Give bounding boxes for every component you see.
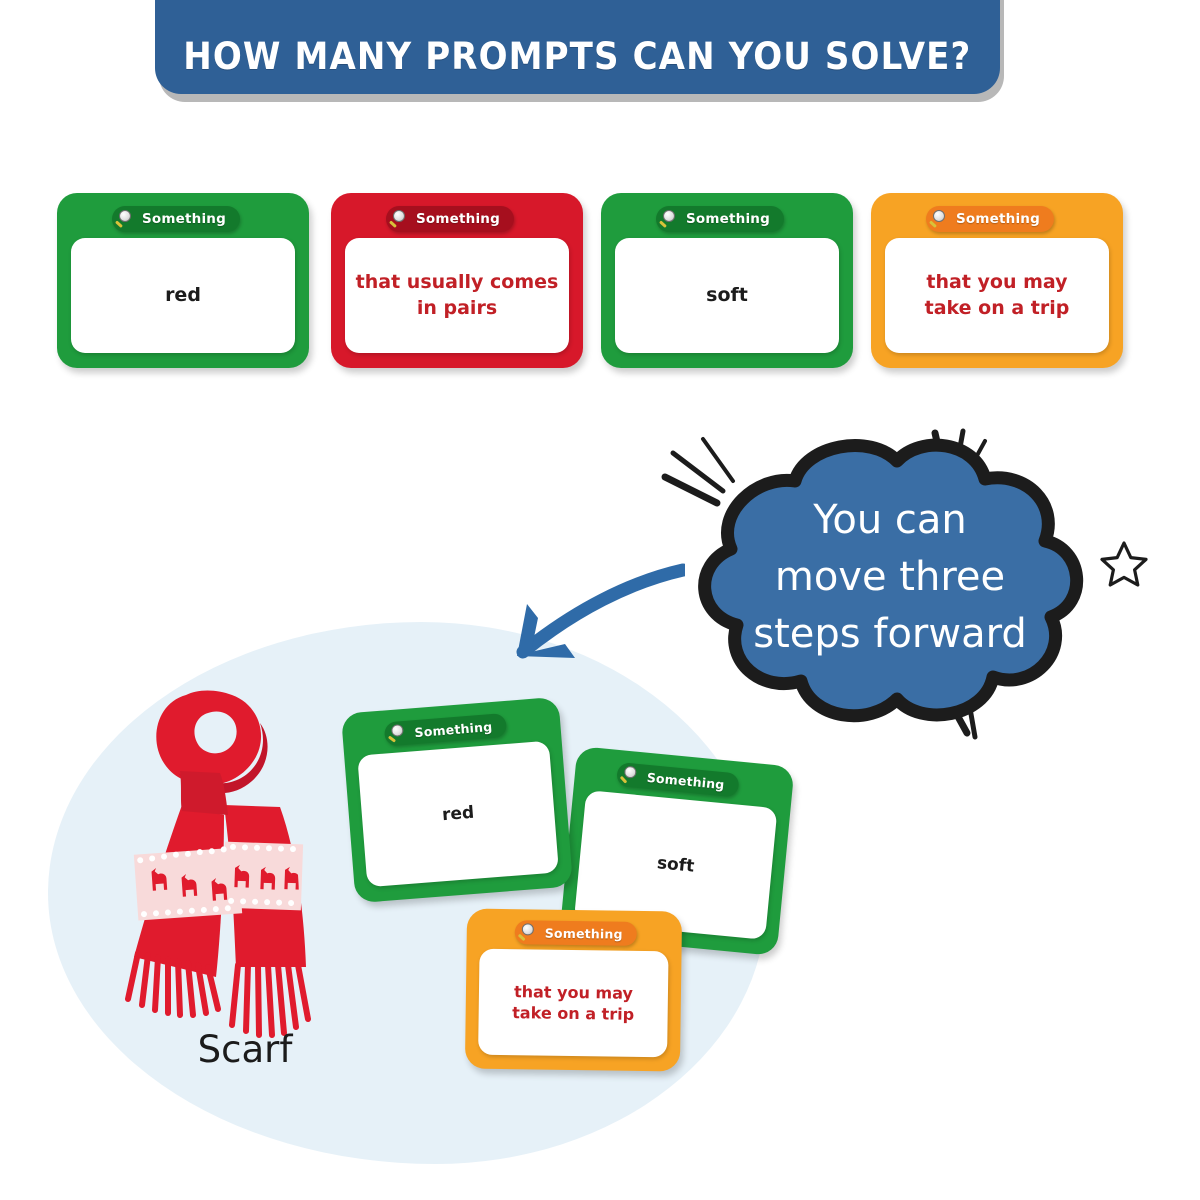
prompt-card-red[interactable]: Something red [57, 193, 309, 368]
card-body: soft [615, 238, 839, 353]
card-badge: Something [112, 206, 240, 232]
bubble-line-3: steps forward [753, 611, 1026, 657]
card-body: red [71, 238, 295, 353]
header-banner: HOW MANY PROMPTS CAN YOU SOLVE? [155, 0, 1000, 94]
speech-bubble: You can move three steps forward [645, 425, 1115, 755]
card-badge-label: Something [956, 211, 1040, 227]
card-badge-label: Something [646, 769, 725, 791]
card-text: that you maytake on a trip [502, 981, 644, 1025]
card-badge: Something [926, 206, 1054, 232]
card-text: soft [696, 283, 758, 308]
played-card-trip[interactable]: Something that you maytake on a trip [465, 909, 682, 1072]
card-badge: Something [515, 920, 637, 946]
card-text: red [431, 801, 485, 827]
star-outline-icon [1098, 538, 1150, 590]
card-text: soft [646, 851, 705, 879]
prompt-card-trip[interactable]: Something that you maytake on a trip [871, 193, 1123, 368]
card-badge-label: Something [416, 211, 500, 227]
card-badge: Something [656, 206, 784, 232]
card-badge: Something [616, 762, 740, 798]
card-body: red [357, 741, 559, 888]
card-text: that you maytake on a trip [915, 270, 1080, 320]
card-badge: Something [386, 206, 514, 232]
card-badge-label: Something [686, 211, 770, 227]
card-badge-label: Something [414, 719, 493, 740]
prompt-card-soft[interactable]: Something soft [601, 193, 853, 368]
bubble-line-1: You can [812, 497, 967, 543]
card-text: red [155, 283, 211, 308]
magnifier-icon [660, 210, 679, 229]
page-title: HOW MANY PROMPTS CAN YOU SOLVE? [183, 35, 971, 78]
card-body: that you maytake on a trip [478, 949, 668, 1058]
played-card-red[interactable]: Something red [341, 697, 573, 904]
magnifier-icon [390, 210, 409, 229]
prompt-card-pairs[interactable]: Something that usually comesin pairs [331, 193, 583, 368]
bubble-line-2: move three [775, 554, 1005, 600]
illustration-label: Scarf [120, 1028, 370, 1071]
banner-body: HOW MANY PROMPTS CAN YOU SOLVE? [155, 0, 1000, 94]
magnifier-icon [930, 210, 949, 229]
card-badge-label: Something [545, 925, 623, 941]
magnifier-icon [620, 765, 641, 786]
card-badge-label: Something [142, 211, 226, 227]
card-badge: Something [384, 713, 507, 746]
card-body: that usually comesin pairs [345, 238, 569, 353]
card-text: that usually comesin pairs [346, 270, 569, 320]
magnifier-icon [388, 723, 408, 743]
scarf-icon [120, 685, 370, 1055]
magnifier-icon [116, 210, 135, 229]
poster-canvas: HOW MANY PROMPTS CAN YOU SOLVE? Somethin… [0, 0, 1200, 1200]
magnifier-icon [519, 923, 538, 942]
card-body: that you maytake on a trip [885, 238, 1109, 353]
